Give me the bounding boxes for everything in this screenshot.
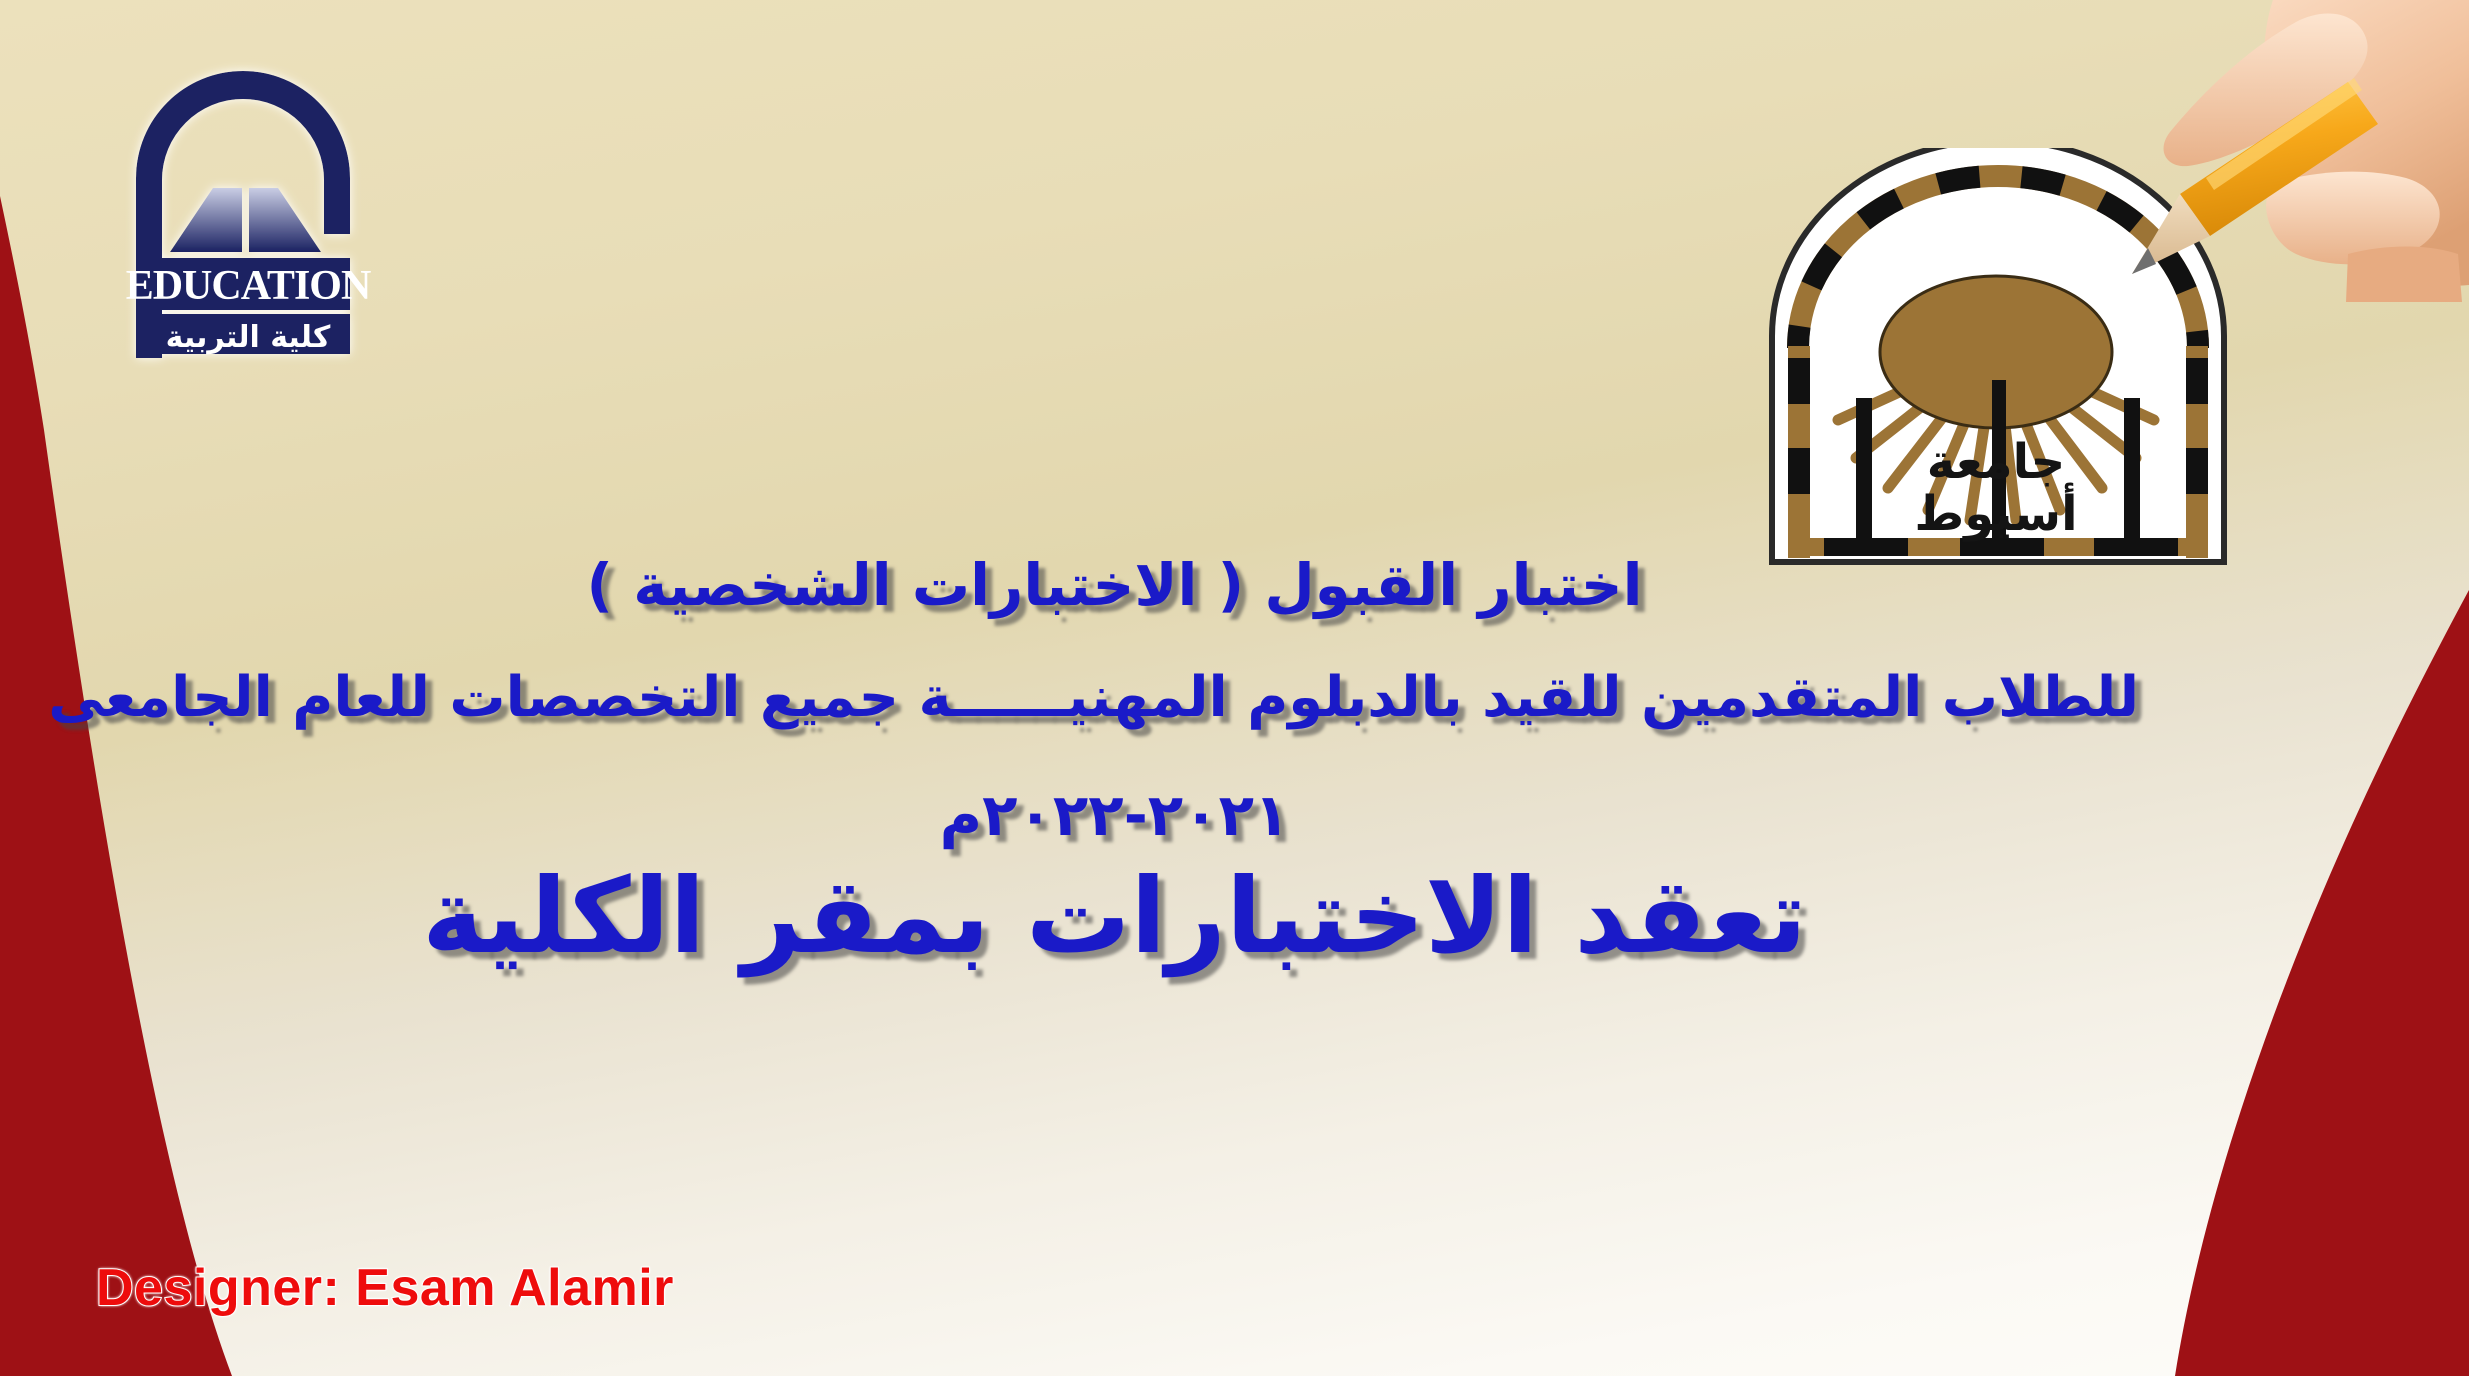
seal-arabic-line1: جامعة [1927, 434, 2066, 490]
faculty-of-education-logo: EDUCATION كلية التربية [78, 58, 408, 368]
heading-line-3-academic-year: ٢٠٢١-٢٠٢٢م [90, 786, 2139, 844]
education-logo-arabic-title: كلية التربية [166, 320, 331, 355]
heading-line-4-venue: تعقد الاختبارات بمقر الكلية [90, 862, 2139, 971]
announcement-slide: EDUCATION كلية التربية [0, 0, 2469, 1376]
seal-arabic-line2: أسيوط [1914, 482, 2077, 542]
designer-credit: Designer: Esam Alamir [96, 1258, 674, 1318]
education-logo-english-title: EDUCATION [126, 263, 371, 309]
hand-holding-pencil-photo [2110, 0, 2469, 312]
heading-line-2: للطلاب المتقدمين للقيد بالدبلوم المهنيــ… [90, 670, 2139, 726]
heading-line-1: اختبار القبول ( الاختبارات الشخصية ) [90, 556, 2139, 614]
headings-block: اختبار القبول ( الاختبارات الشخصية ) للط… [90, 556, 2139, 971]
